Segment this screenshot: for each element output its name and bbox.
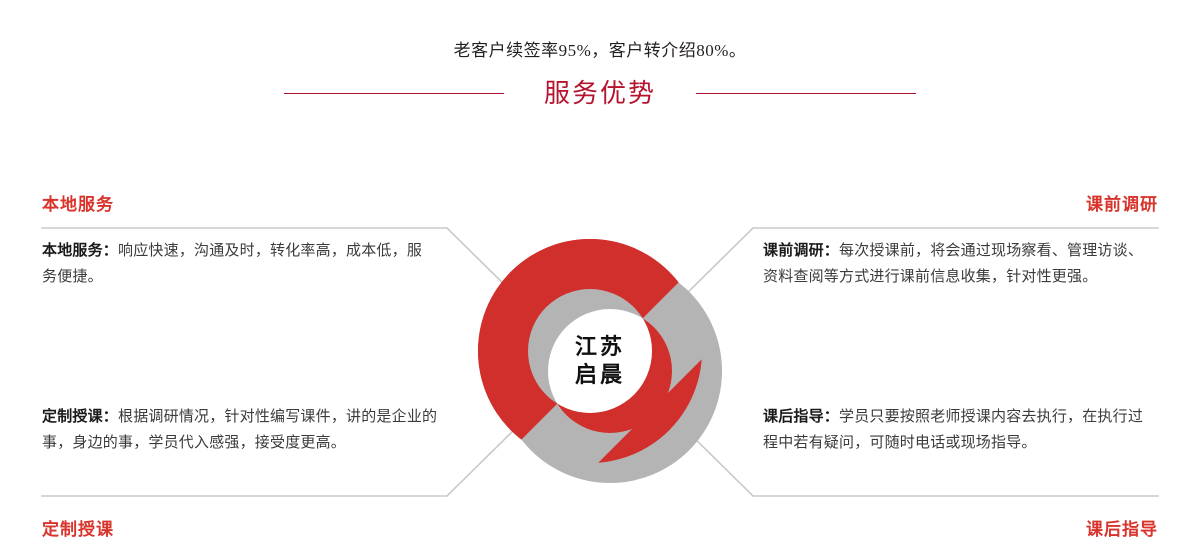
- quadrant-lead-bottom-right: 课后指导：: [763, 408, 839, 425]
- logo-text: 江苏 启晨: [466, 227, 734, 495]
- quadrant-label-top-right: 课前调研: [1086, 190, 1158, 215]
- heading-rule-right: [696, 93, 916, 94]
- quadrant-lead-top-left: 本地服务：: [42, 242, 118, 259]
- section-heading: 服务优势: [0, 80, 1200, 106]
- slide-canvas: 老客户续签率95%，客户转介绍80%。 服务优势 本地服务 课前调研 定制授课 …: [0, 0, 1200, 555]
- quadrant-label-top-left: 本地服务: [42, 190, 114, 215]
- quadrant-text-top-left: 本地服务：响应快速，沟通及时，转化率高，成本低，服务便捷。: [42, 238, 437, 290]
- quadrant-text-bottom-right: 课后指导：学员只要按照老师授课内容去执行，在执行过程中若有疑问，可随时电话或现场…: [763, 404, 1158, 456]
- logo-text-line2: 启晨: [575, 361, 625, 389]
- quadrant-label-bottom-left: 定制授课: [42, 515, 114, 540]
- logo-text-line1: 江苏: [575, 333, 625, 361]
- quadrant-text-top-right: 课前调研：每次授课前，将会通过现场察看、管理访谈、资料查阅等方式进行课前信息收集…: [763, 238, 1158, 290]
- section-title: 服务优势: [544, 80, 656, 106]
- center-logo: 江苏 启晨: [466, 227, 734, 495]
- quadrant-lead-top-right: 课前调研：: [763, 242, 839, 259]
- heading-rule-left: [284, 93, 504, 94]
- quadrant-label-bottom-right: 课后指导: [1086, 515, 1158, 540]
- quadrant-lead-bottom-left: 定制授课：: [42, 408, 118, 425]
- quadrant-text-bottom-left: 定制授课：根据调研情况，针对性编写课件，讲的是企业的事，身边的事，学员代入感强，…: [42, 404, 452, 456]
- tagline: 老客户续签率95%，客户转介绍80%。: [0, 36, 1200, 61]
